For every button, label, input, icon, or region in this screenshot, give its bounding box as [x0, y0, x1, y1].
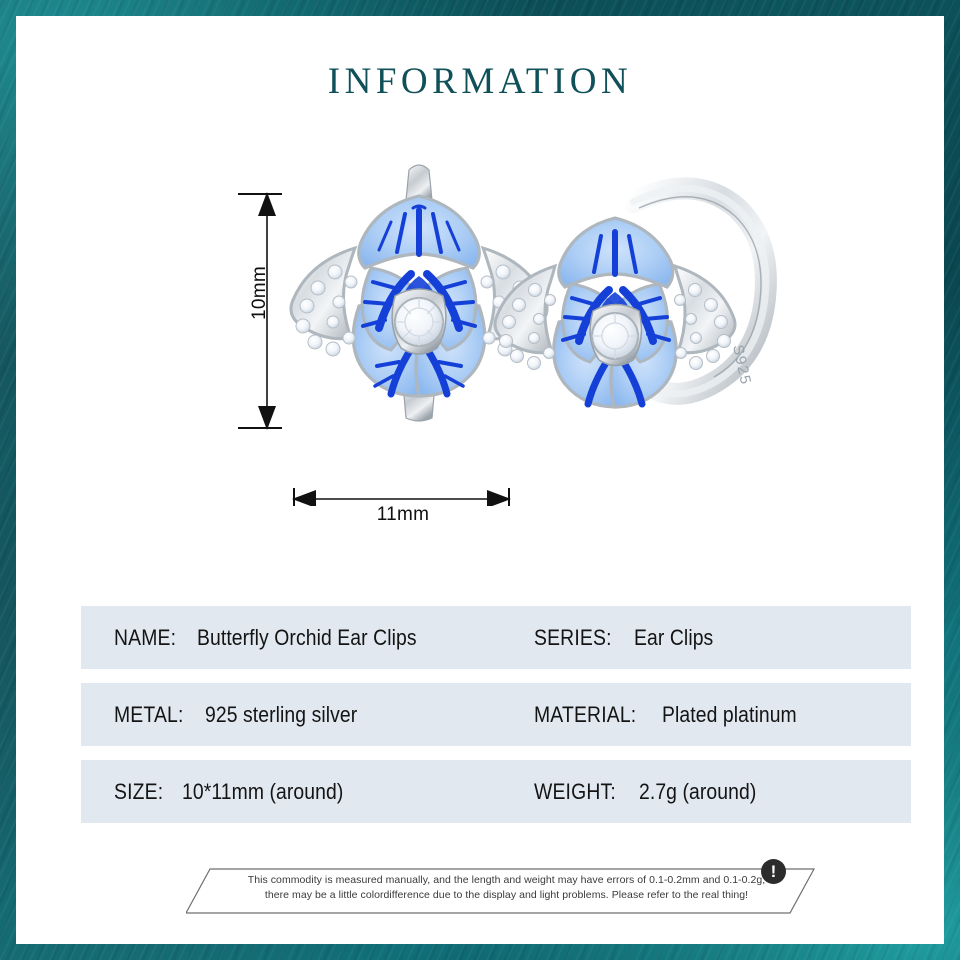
- disclaimer-banner: This commodity is measured manually, and…: [186, 861, 826, 931]
- table-row: NAME: Butterfly Orchid Ear Clips SERIES:…: [81, 606, 911, 669]
- dimension-width-label: 11mm: [278, 504, 528, 526]
- spec-label-name: NAME:: [114, 625, 176, 651]
- spec-value-weight: 2.7g (around): [639, 779, 756, 805]
- spec-label-material: MATERIAL:: [534, 702, 636, 728]
- dimension-height: 10mm: [230, 176, 290, 446]
- spec-value-size: 10*11mm (around): [182, 779, 343, 805]
- spec-value-metal: 925 sterling silver: [205, 702, 357, 728]
- disclaimer-text: This commodity is measured manually, and…: [224, 873, 789, 903]
- exclamation-icon: !: [761, 859, 786, 884]
- spec-label-size: SIZE:: [114, 779, 163, 805]
- spec-value-material: Plated platinum: [662, 702, 797, 728]
- product-photo: S925: [263, 156, 783, 476]
- left-earring: [291, 165, 547, 421]
- page-title: INFORMATION: [16, 60, 944, 103]
- spec-label-weight: WEIGHT:: [534, 779, 616, 805]
- spec-cell-metal: METAL: 925 sterling silver: [114, 702, 378, 728]
- spec-label-series: SERIES:: [534, 625, 612, 651]
- spec-cell-series: SERIES: Ear Clips: [534, 625, 724, 651]
- spec-value-series: Ear Clips: [634, 625, 713, 651]
- right-earring: S925: [495, 188, 766, 407]
- spec-cell-material: MATERIAL: Plated platinum: [534, 702, 815, 728]
- disclaimer-line-2: there may be a little colordifference du…: [224, 888, 789, 903]
- disclaimer-line-1: This commodity is measured manually, and…: [224, 873, 789, 888]
- table-row: SIZE: 10*11mm (around) WEIGHT: 2.7g (aro…: [81, 760, 911, 823]
- information-graphic: INFORMATION: [0, 0, 960, 960]
- spec-cell-size: SIZE: 10*11mm (around): [114, 779, 365, 805]
- dimension-height-label: 10mm: [249, 257, 271, 329]
- spec-value-name: Butterfly Orchid Ear Clips: [197, 625, 417, 651]
- spec-cell-weight: WEIGHT: 2.7g (around): [534, 779, 772, 805]
- white-content-card: INFORMATION: [16, 16, 944, 944]
- spec-table: NAME: Butterfly Orchid Ear Clips SERIES:…: [81, 606, 911, 837]
- dimension-width: 11mm: [278, 476, 528, 536]
- table-row: METAL: 925 sterling silver MATERIAL: Pla…: [81, 683, 911, 746]
- spec-label-metal: METAL:: [114, 702, 184, 728]
- spec-cell-name: NAME: Butterfly Orchid Ear Clips: [114, 625, 446, 651]
